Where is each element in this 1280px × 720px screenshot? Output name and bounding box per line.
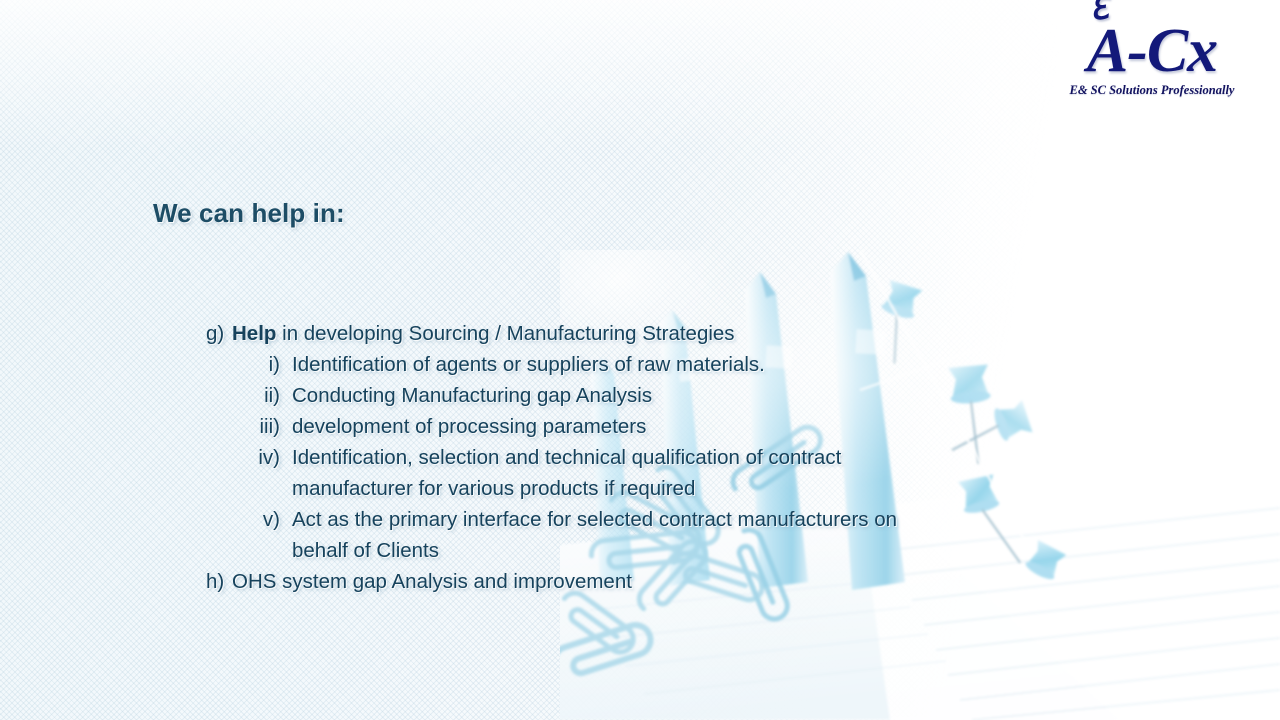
list-item-bold-lead: Help (232, 322, 276, 345)
content-list: g) Help in developing Sourcing / Manufac… (206, 318, 1166, 597)
sub-list: i) Identification of agents or suppliers… (248, 349, 1166, 566)
list-item: h) OHS system gap Analysis and improveme… (206, 566, 1166, 597)
sub-item-marker: i) (248, 349, 292, 380)
list-item-text: Help in developing Sourcing / Manufactur… (232, 318, 1166, 349)
sub-item-line: manufacturer for various products if req… (292, 473, 1166, 504)
list-item: g) Help in developing Sourcing / Manufac… (206, 318, 1166, 349)
logo-swash-icon: ℇ (1088, 0, 1109, 26)
sub-list-item: i) Identification of agents or suppliers… (248, 349, 1166, 380)
sub-item-text: Identification, selection and technical … (292, 442, 1166, 504)
sub-item-marker: iii) (248, 411, 292, 442)
list-item-rest: in developing Sourcing / Manufacturing S… (276, 322, 734, 345)
brand-logo: ℇ A-Cx E& SC Solutions Professionally (1052, 22, 1252, 98)
sub-item-line: Act as the primary interface for selecte… (292, 504, 1166, 535)
list-item-marker: g) (206, 318, 232, 349)
sub-item-text: development of processing parameters (292, 411, 1166, 442)
sub-item-line: Identification, selection and technical … (292, 442, 1166, 473)
page-title: We can help in: (153, 198, 345, 229)
logo-wordmark-text: A-Cx (1087, 17, 1217, 85)
sub-item-line: behalf of Clients (292, 535, 1166, 566)
sub-item-marker: ii) (248, 380, 292, 411)
sub-list-item: iv) Identification, selection and techni… (248, 442, 1166, 504)
sub-item-line: Conducting Manufacturing gap Analysis (292, 380, 1166, 411)
logo-wordmark: ℇ A-Cx (1052, 22, 1252, 81)
list-item-text: OHS system gap Analysis and improvement (232, 566, 1166, 597)
logo-tagline: E& SC Solutions Professionally (1052, 83, 1252, 98)
sub-item-line: development of processing parameters (292, 411, 1166, 442)
sub-item-text: Identification of agents or suppliers of… (292, 349, 1166, 380)
sub-item-text: Conducting Manufacturing gap Analysis (292, 380, 1166, 411)
sub-item-text: Act as the primary interface for selecte… (292, 504, 1166, 566)
sub-list-item: iii) development of processing parameter… (248, 411, 1166, 442)
list-item-marker: h) (206, 566, 232, 597)
sub-item-marker: iv) (248, 442, 292, 473)
sub-list-item: v) Act as the primary interface for sele… (248, 504, 1166, 566)
slide: ℇ A-Cx E& SC Solutions Professionally We… (0, 0, 1280, 720)
sub-item-line: Identification of agents or suppliers of… (292, 349, 1166, 380)
sub-list-item: ii) Conducting Manufacturing gap Analysi… (248, 380, 1166, 411)
sub-item-marker: v) (248, 504, 292, 535)
